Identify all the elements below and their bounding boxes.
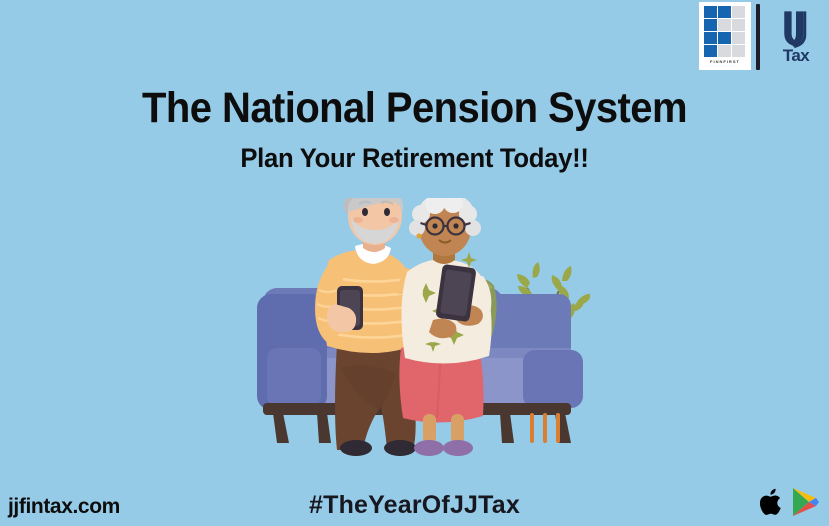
google-play-store-icon[interactable] [790,486,820,518]
fintax-grid-logo: FINNFIRST [699,2,751,70]
grid-cell [732,45,745,57]
brand-logo-block[interactable]: FINNFIRST Tax [694,0,829,78]
logo-divider [756,4,760,70]
grid-cell [718,45,731,57]
grid-cell [704,19,717,31]
jj-monogram-icon [774,8,818,50]
grid-cell [718,32,731,44]
grid-cell [732,32,745,44]
side-table-legs [530,413,560,443]
logo-grid [704,6,746,57]
jjtax-logo[interactable]: Tax [766,2,826,72]
grid-cell [704,32,717,44]
page-title: The National Pension System [29,84,800,133]
logo-caption: FINNFIRST [710,59,740,64]
grid-cell [732,19,745,31]
app-store-badges[interactable] [758,485,824,519]
apple-app-store-icon[interactable] [758,486,786,518]
grid-cell [718,19,731,31]
poster-canvas: FINNFIRST Tax The National Pension Syste… [0,0,829,526]
grid-cell [704,6,717,18]
grid-cell [718,6,731,18]
grid-cell [732,6,745,18]
grid-cell [704,45,717,57]
sofa-arm-right [523,350,583,408]
hashtag-label: #TheYearOfJJTax [0,491,829,520]
page-subtitle: Plan Your Retirement Today!! [21,143,809,174]
woman-figure [399,198,491,456]
elderly-couple-illustration [255,198,590,460]
jjtax-wordmark: Tax [783,46,810,66]
